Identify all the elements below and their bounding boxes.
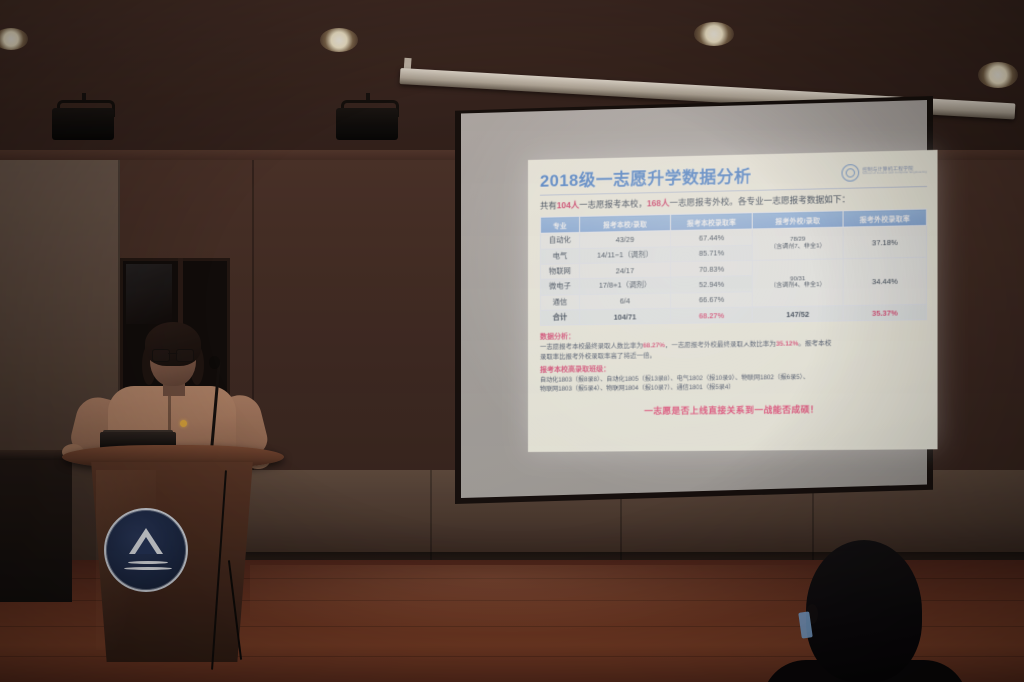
- stage-light-right: [336, 100, 398, 144]
- th-own-rate: 报考本校录取率: [671, 213, 752, 231]
- th-major: 专业: [540, 217, 579, 234]
- analysis-body: 一志愿报考本校最终录取人数比率为68.27%，一志愿报考外校最终录取人数比率为3…: [540, 338, 927, 362]
- lead-mid2: 一志愿报考外校。各专业一志愿报考数据如下：: [669, 194, 850, 208]
- cell-other-rate-merged: 34.44%: [843, 257, 926, 306]
- university-emblem: [104, 508, 188, 592]
- cell-own: 24/17: [579, 262, 671, 279]
- cell-total-other-rate: 35.37%: [843, 304, 926, 321]
- floor-reflection: [250, 565, 850, 635]
- table-body: 自动化 43/29 67.44% 78/29 （含调剂7、非全1） 37.18%…: [540, 226, 926, 326]
- logo-inner-circle: [846, 168, 855, 177]
- analysis-hl-own: 68.27%: [643, 343, 665, 350]
- emblem-triangle-icon: [129, 528, 163, 554]
- analysis-line1b: ，一志愿报考外校最终录取人数比率为: [665, 341, 776, 350]
- cell-major: 通信: [540, 294, 579, 310]
- cell-other-note: （含调剂4、非全1）: [770, 282, 825, 289]
- enrollment-table: 专业 报考本校/录取 报考本校录取率 报考外校/录取 报考外校录取率 自动化 4…: [540, 209, 927, 326]
- presentation-slide: 2018级一志愿升学数据分析 控制与计算机工程学院 School of Cont…: [528, 150, 938, 452]
- audience-head: [806, 540, 922, 682]
- cell-other-value: 78/29: [790, 237, 805, 243]
- cell-other-merged: 90/31 （含调剂4、非全1）: [752, 259, 843, 307]
- stage-light-body: [52, 108, 114, 140]
- cell-own: 6/4: [579, 293, 671, 310]
- th-own-applied: 报考本校/录取: [579, 215, 671, 233]
- downlight-ceiling-4: [978, 62, 1018, 88]
- cell-own: 17/8+1（调剂）: [579, 277, 671, 294]
- cell-major: 电气: [540, 248, 579, 264]
- lead-count-own: 104人: [557, 200, 579, 211]
- th-other-rate: 报考外校录取率: [843, 209, 926, 227]
- slide-lead-sentence: 共有104人一志愿报考本校，168人一志愿报考外校。各专业一志愿报考数据如下：: [540, 192, 927, 212]
- lecture-hall-photo: 2018级一志愿升学数据分析 控制与计算机工程学院 School of Cont…: [0, 0, 1024, 682]
- cell-major: 自动化: [540, 233, 579, 249]
- glasses-left-lens: [152, 349, 170, 362]
- downlight-ceiling-3: [694, 22, 734, 46]
- slide-title: 2018级一志愿升学数据分析: [540, 163, 751, 192]
- th-other-applied: 报考外校/录取: [752, 211, 843, 229]
- wainscot-seam-1: [430, 470, 432, 565]
- stage-light-body: [336, 108, 398, 140]
- cell-other-merged: 78/29 （含调剂7、非全1）: [752, 227, 843, 260]
- cell-own-rate: 85.71%: [671, 245, 752, 262]
- cell-other-value: 90/31: [790, 276, 805, 282]
- lead-mid1: 一志愿报考本校，: [579, 198, 647, 210]
- stage-light-left: [52, 100, 114, 144]
- cell-other-rate-merged: 37.18%: [843, 226, 926, 259]
- window-glass-reflection: [126, 264, 172, 324]
- cell-own: 43/29: [579, 231, 671, 248]
- cell-major: 物联网: [540, 263, 579, 279]
- cell-own-rate: 52.94%: [671, 276, 752, 293]
- logo-name-en: School of Control and Computer Engineeri…: [862, 172, 927, 176]
- class-list-line2: 物联网1803（报5录4）、物联网1804（报10录7）、通信1801（报5录4…: [540, 384, 735, 393]
- glasses-right-lens: [176, 349, 194, 362]
- emblem-wave-lower: [124, 567, 172, 570]
- cell-total-label: 合计: [540, 310, 579, 326]
- analysis-line2: 录取率比报考外校录取率高了将近一倍。: [540, 352, 656, 360]
- microphone-head: [209, 356, 220, 369]
- lead-count-other: 168人: [647, 198, 670, 209]
- class-list-line1: 自动化1803（报8录8）、自动化1805（报13录8）、电气1802（报10录…: [540, 374, 809, 384]
- cell-total-own-rate: 68.27%: [671, 307, 752, 324]
- downlight-ceiling-2: [320, 28, 358, 52]
- lead-prefix: 共有: [540, 200, 557, 210]
- slide-conclusion: 一志愿是否上线直接关系到一战能否成硕！: [540, 402, 927, 418]
- cell-total-other: 147/52: [752, 306, 843, 323]
- class-list: 自动化1803（报8录8）、自动化1805（报13录8）、电气1802（报10录…: [540, 371, 927, 394]
- cell-other-note: （含调剂7、非全1）: [770, 243, 825, 250]
- logo-circle-icon: [842, 164, 860, 182]
- presenter-glasses: [152, 349, 194, 360]
- analysis-line1c: 。报考本校: [798, 340, 831, 348]
- cell-own-rate: 70.83%: [671, 260, 752, 277]
- analysis-section: 数据分析： 一志愿报考本校最终录取人数比率为68.27%，一志愿报考外校最终录取…: [540, 327, 927, 394]
- analysis-hl-other: 35.12%: [776, 341, 798, 348]
- school-logo: 控制与计算机工程学院 School of Control and Compute…: [842, 162, 927, 181]
- analysis-line1a: 一志愿报考本校最终录取人数比率为: [540, 343, 643, 351]
- cell-own-rate: 67.44%: [671, 229, 752, 246]
- logo-text-block: 控制与计算机工程学院 School of Control and Compute…: [862, 167, 927, 176]
- cell-own-rate: 66.67%: [671, 291, 752, 308]
- emblem-wave-upper: [128, 561, 168, 564]
- cell-major: 微电子: [540, 279, 579, 295]
- side-table: [0, 452, 72, 602]
- cell-own: 14/11+1（调剂）: [579, 246, 671, 263]
- cell-total-own: 104/71: [579, 308, 671, 325]
- presenter-lapel-badge: [180, 420, 187, 427]
